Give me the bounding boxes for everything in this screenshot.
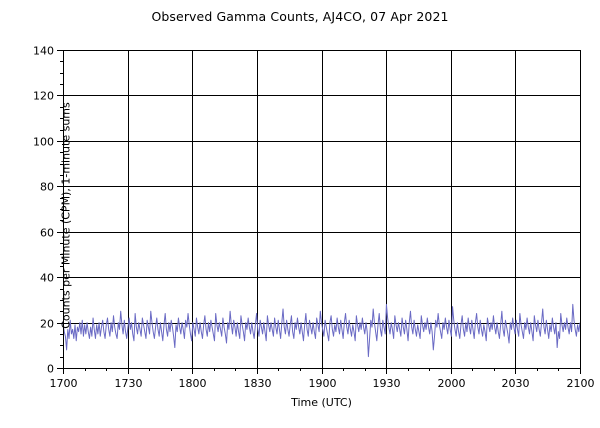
y-tick-label: 120: [33, 90, 54, 103]
x-tick-label: 2100: [567, 377, 595, 390]
chart-page: Observed Gamma Counts, AJ4CO, 07 Apr 202…: [0, 0, 600, 428]
y-tick-label: 60: [40, 227, 54, 240]
y-tick-label: 80: [40, 181, 54, 194]
x-tick-label: 1800: [179, 377, 207, 390]
x-tick-label: 1700: [50, 377, 78, 390]
x-tick-label: 2000: [438, 377, 466, 390]
y-tick-label: 0: [47, 363, 54, 376]
x-tick-label: 1900: [309, 377, 337, 390]
axis-ticks-layer: [57, 51, 581, 375]
y-tick-label: 40: [40, 272, 54, 285]
y-tick-label: 100: [33, 136, 54, 149]
x-tick-label: 1730: [115, 377, 143, 390]
x-tick-label: 2030: [502, 377, 530, 390]
y-tick-label: 20: [40, 318, 54, 331]
plot-canvas: 0204060801001201401700173018001830190019…: [0, 0, 600, 428]
x-tick-label: 1830: [244, 377, 272, 390]
data-series-layer: [63, 304, 580, 356]
y-tick-label: 140: [33, 45, 54, 58]
x-tick-label: 1930: [373, 377, 401, 390]
data-line-gamma-counts: [63, 304, 580, 356]
